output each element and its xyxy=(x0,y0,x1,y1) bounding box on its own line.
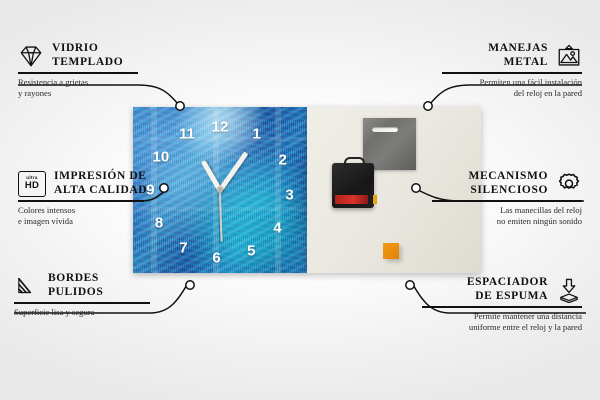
foam-spacer xyxy=(383,243,399,259)
callout-espaciador-espuma: ESPACIADOR DE ESPUMA Permite mantener un… xyxy=(422,276,582,334)
callout-title-line1: ESPACIADOR xyxy=(467,276,548,290)
clock-second-hand xyxy=(219,190,222,242)
callout-vidrio-templado: VIDRIO TEMPLADO Resistencia a grietas y … xyxy=(18,42,158,100)
clock-numeral-2: 2 xyxy=(278,153,286,168)
callout-desc-line1: Permite mantener una distancia xyxy=(422,311,582,323)
callout-title-line2: ALTA CALIDAD xyxy=(54,184,147,198)
clock-numeral-6: 6 xyxy=(212,251,220,266)
clock-minute-hand xyxy=(218,151,248,192)
clock-numeral-4: 4 xyxy=(273,221,281,236)
clock-numeral-11: 11 xyxy=(179,126,195,141)
polished-edges-icon xyxy=(14,273,40,299)
leader-dot-espaciador xyxy=(406,281,414,289)
ultra-hd-icon-main: HD xyxy=(25,181,39,191)
callout-header: ESPACIADOR DE ESPUMA xyxy=(422,276,582,303)
infographic-canvas: 12 1 2 3 4 5 6 7 8 9 10 11 xyxy=(0,0,600,400)
callout-desc-line2: uniforme entre el reloj y la pared xyxy=(422,322,582,334)
callout-header: BORDES PULIDOS xyxy=(14,272,164,299)
callout-title-line1: MECANISMO xyxy=(468,170,548,184)
clock-center-pin xyxy=(217,187,223,193)
mechanism-hook xyxy=(344,157,365,168)
callout-title-line2: METAL xyxy=(488,56,548,70)
callout-title-line1: IMPRESIÓN DE xyxy=(54,170,147,184)
clock-numeral-3: 3 xyxy=(285,187,293,202)
clock-numeral-1: 1 xyxy=(252,126,260,141)
callout-title-line1: MANEJAS xyxy=(488,42,548,56)
callout-desc-line1: Resistencia a grietas xyxy=(18,77,158,89)
callout-desc-line2: y rayones xyxy=(18,88,158,100)
callout-desc-line2: del reloj en la pared xyxy=(442,88,582,100)
callout-header: MECANISMO SILENCIOSO xyxy=(432,170,582,197)
diamond-icon xyxy=(18,43,44,69)
callout-rule xyxy=(442,72,582,74)
callout-desc-line1: Las manecillas del reloj xyxy=(432,205,582,217)
leader-dot-bordes xyxy=(186,281,194,289)
callout-header: VIDRIO TEMPLADO xyxy=(18,42,158,69)
ultra-hd-icon: ultra HD xyxy=(18,171,46,197)
callout-rule xyxy=(18,72,138,74)
callout-desc-line1: Permiten una fácil instalación xyxy=(442,77,582,89)
callout-header: MANEJAS METAL xyxy=(442,42,582,69)
callout-impresion-alta-calidad: ultra HD IMPRESIÓN DE ALTA CALIDAD Color… xyxy=(18,170,168,228)
callout-title-line2: DE ESPUMA xyxy=(467,290,548,304)
callout-title-line1: VIDRIO xyxy=(52,42,123,56)
clock-numeral-7: 7 xyxy=(179,241,187,256)
clock-numeral-10: 10 xyxy=(152,149,169,164)
battery xyxy=(335,195,368,204)
clock-numeral-12: 12 xyxy=(212,119,229,134)
callout-rule xyxy=(14,302,150,304)
callout-title-line2: PULIDOS xyxy=(48,286,103,300)
foam-spacer-icon xyxy=(556,277,582,303)
callout-rule xyxy=(432,200,582,202)
callout-title-line2: SILENCIOSO xyxy=(468,184,548,198)
quartz-mechanism xyxy=(332,163,374,208)
battery-terminal xyxy=(373,195,377,204)
callout-manejas-metal: MANEJAS METAL Permiten una fácil instala… xyxy=(442,42,582,100)
clock-numeral-5: 5 xyxy=(247,244,255,259)
callout-desc-line2: e imagen vívida xyxy=(18,216,168,228)
clock-hour-hand xyxy=(201,159,222,191)
callout-desc-line1: Colores intensos xyxy=(18,205,168,217)
gear-icon xyxy=(556,171,582,197)
callout-title-line1: BORDES xyxy=(48,272,103,286)
callout-bordes-pulidos: BORDES PULIDOS Superficie lisa y segura xyxy=(14,272,164,318)
callout-desc-line2: no emiten ningún sonido xyxy=(432,216,582,228)
product-image: 12 1 2 3 4 5 6 7 8 9 10 11 xyxy=(133,107,481,273)
callout-rule xyxy=(18,200,144,202)
callout-header: ultra HD IMPRESIÓN DE ALTA CALIDAD xyxy=(18,170,168,197)
callout-rule xyxy=(422,306,582,308)
hanger-slot xyxy=(372,127,398,132)
callout-mecanismo-silencioso: MECANISMO SILENCIOSO Las manecillas del … xyxy=(432,170,582,228)
callout-title-line2: TEMPLADO xyxy=(52,56,123,70)
hanging-picture-icon xyxy=(556,43,582,69)
callout-desc-line1: Superficie lisa y segura xyxy=(14,307,164,319)
